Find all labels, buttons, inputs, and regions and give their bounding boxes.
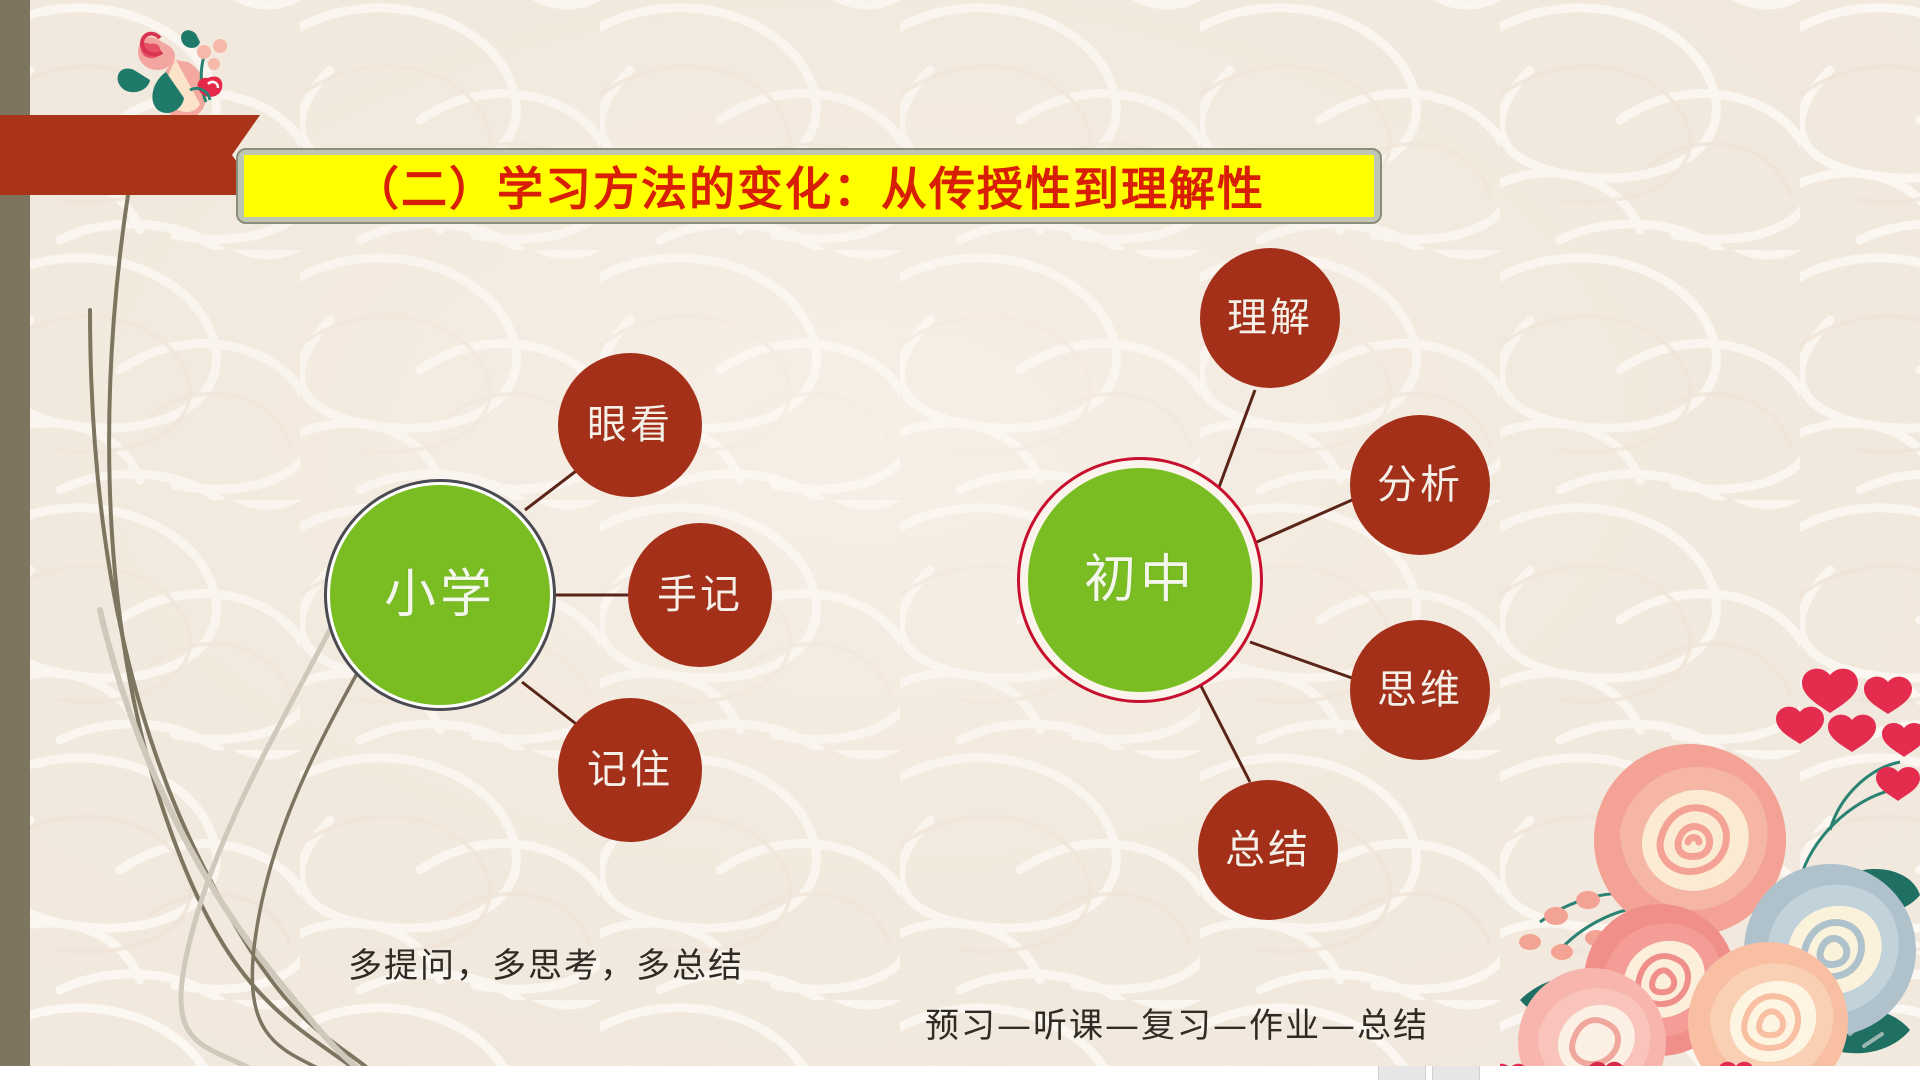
node-thinking[interactable]: 思维 <box>1350 620 1490 760</box>
node-understand[interactable]: 理解 <box>1200 248 1340 388</box>
bottom-strip <box>0 1066 1920 1080</box>
node-junior-high-center[interactable]: 初中 <box>1028 468 1252 692</box>
node-label: 初中 <box>1084 554 1196 606</box>
node-label: 小学 <box>384 569 496 621</box>
node-analyze[interactable]: 分析 <box>1350 415 1490 555</box>
caption-primary-school: 多提问，多思考，多总结 <box>348 938 744 987</box>
node-label: 分析 <box>1377 465 1463 505</box>
node-label: 总结 <box>1225 830 1311 870</box>
node-eyes-watch[interactable]: 眼看 <box>558 353 702 497</box>
bottom-notch-left[interactable] <box>1378 1066 1426 1080</box>
node-label: 眼看 <box>587 405 673 445</box>
caption-junior-high: 预习—听课—复习—作业—总结 <box>925 998 1429 1047</box>
rose-bouquet-icon <box>1500 650 1920 1080</box>
slide-canvas: （二）学习方法的变化：从传授性到理解性 小学 眼看 手记 记住 初中 理解 <box>0 0 1920 1080</box>
node-summarize[interactable]: 总结 <box>1198 780 1338 920</box>
node-label: 思维 <box>1377 670 1463 710</box>
node-primary-school-center[interactable]: 小学 <box>330 485 550 705</box>
node-label: 手记 <box>657 575 743 615</box>
bottom-notch-right[interactable] <box>1432 1066 1480 1080</box>
node-remember[interactable]: 记住 <box>558 698 702 842</box>
node-label: 记住 <box>587 750 673 790</box>
node-label: 理解 <box>1227 298 1313 338</box>
node-hand-notes[interactable]: 手记 <box>628 523 772 667</box>
